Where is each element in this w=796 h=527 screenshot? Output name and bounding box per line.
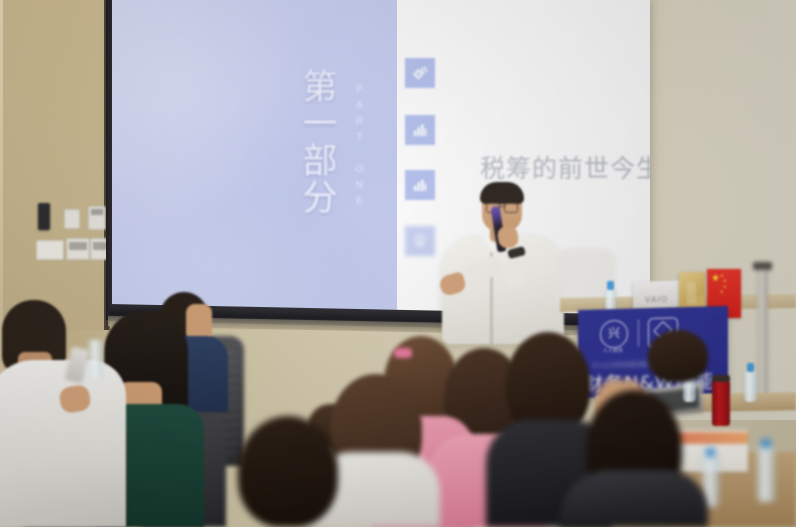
socket-icon	[38, 203, 50, 230]
water-bottle	[744, 370, 757, 402]
thermos	[712, 380, 730, 426]
light-switch-icon	[36, 240, 64, 260]
speaker-stand	[757, 268, 768, 398]
room-wall-left-panel	[0, 0, 108, 330]
attendee-head	[648, 330, 708, 382]
bar-chart-icon	[405, 115, 435, 145]
presenter	[432, 178, 572, 338]
slide-section-number-en: PART ONE	[345, 84, 365, 214]
switch-panel-icon	[64, 209, 80, 229]
laptop-brand-label: VAIO	[645, 295, 668, 305]
conference-room-photo: 第一部分 PART ONE	[0, 0, 796, 527]
banner-logo-left: 兴	[600, 320, 628, 349]
lightbulb-icon	[405, 226, 435, 256]
flag-star-4: ★	[720, 288, 724, 295]
hair-tie-icon	[394, 348, 412, 358]
thermostat-icon	[88, 206, 106, 230]
water-bottle	[88, 340, 103, 378]
bar-chart-icon-2	[405, 170, 435, 200]
speaker-stand-top	[753, 262, 772, 270]
gears-icon	[405, 58, 435, 88]
presenter-hair	[480, 182, 524, 204]
attendee-head	[238, 416, 338, 527]
banner-logo-divider	[638, 319, 639, 346]
banner-logo-left-caption: 人人财务	[594, 347, 632, 355]
water-bottle	[757, 446, 775, 502]
attendee-body	[560, 470, 708, 527]
flag-star-large: ★	[711, 275, 720, 282]
slide-section-number-cn: 第一部分	[295, 70, 345, 218]
wall-panel-icon-1	[66, 238, 90, 260]
attendee-body	[0, 360, 126, 527]
